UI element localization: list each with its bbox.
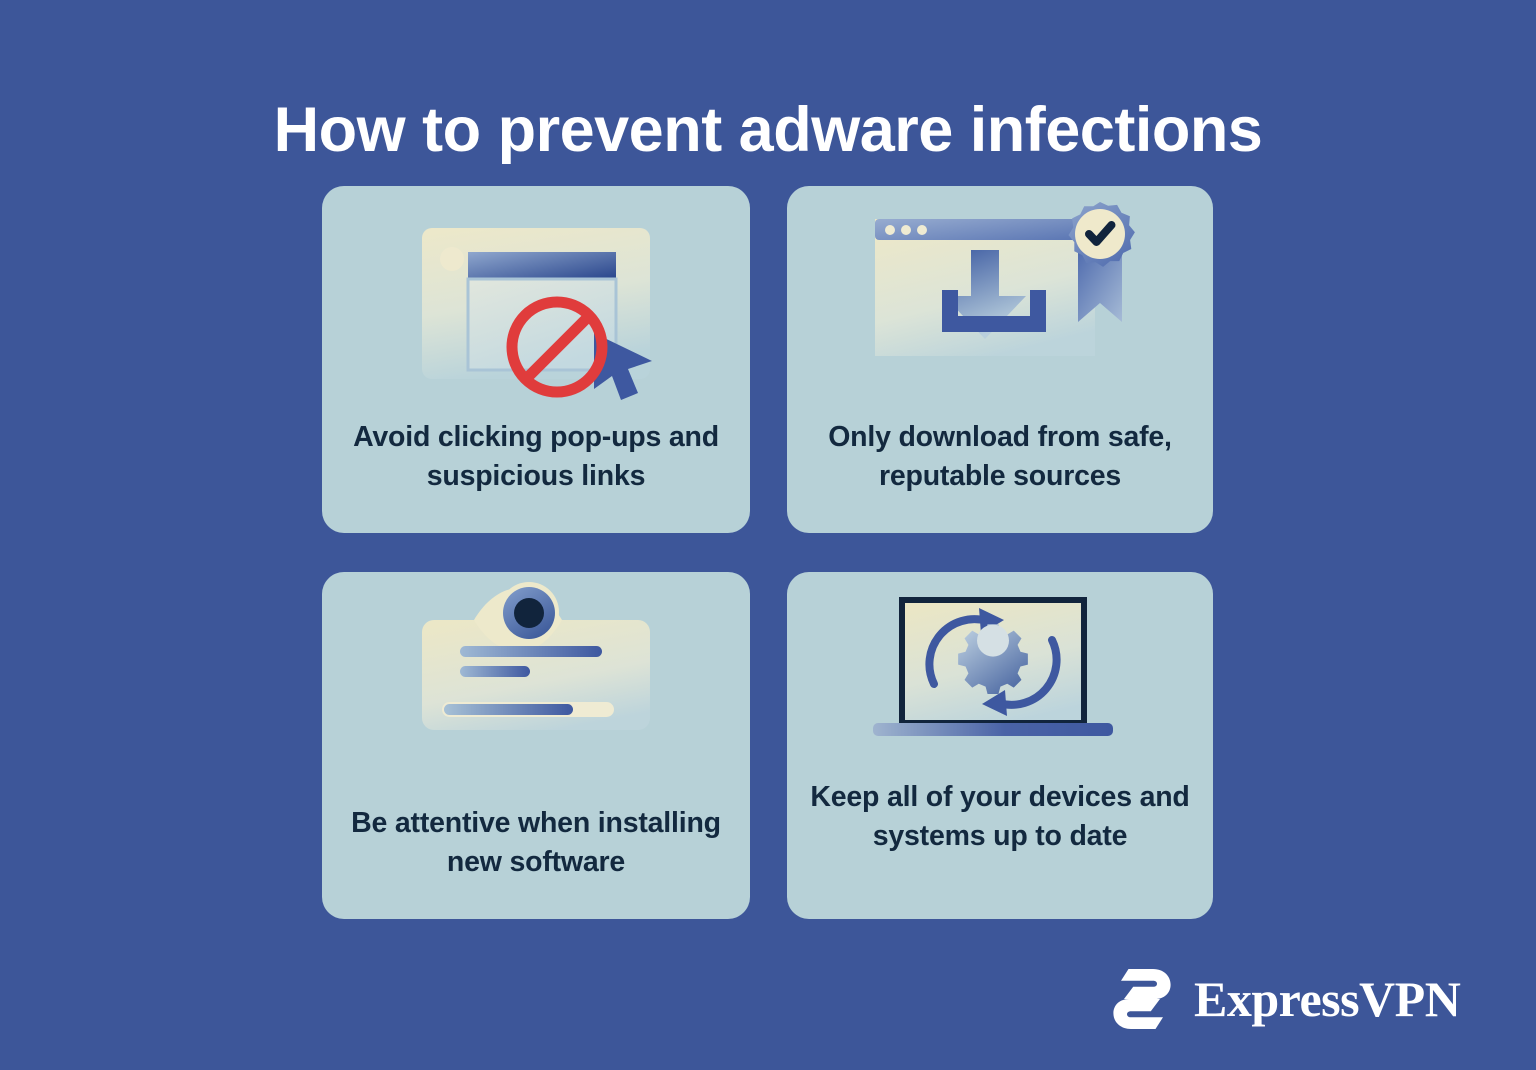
card-label: Keep all of your devices and systems up … xyxy=(801,778,1199,856)
popup-blocked-icon xyxy=(322,186,750,412)
card-label: Avoid clicking pop-ups and suspicious li… xyxy=(336,418,736,496)
card-up-to-date: Keep all of your devices and systems up … xyxy=(787,572,1213,919)
expressvpn-e-mark-icon xyxy=(1106,963,1178,1035)
verified-download-icon xyxy=(787,186,1213,412)
infographic-canvas: How to prevent adware infections xyxy=(0,0,1536,1070)
page-title: How to prevent adware infections xyxy=(0,96,1536,165)
card-avoid-popups: Avoid clicking pop-ups and suspicious li… xyxy=(322,186,750,533)
card-safe-downloads: Only download from safe, reputable sourc… xyxy=(787,186,1213,533)
brand-name: ExpressVPN xyxy=(1194,974,1460,1024)
tips-grid: Avoid clicking pop-ups and suspicious li… xyxy=(322,186,1214,919)
expressvpn-logo: ExpressVPN xyxy=(1106,960,1446,1038)
card-label: Only download from safe, reputable sourc… xyxy=(801,418,1199,496)
card-attentive-install: Be attentive when installing new softwar… xyxy=(322,572,750,919)
eye-install-dialog-icon xyxy=(322,572,750,798)
card-label: Be attentive when installing new softwar… xyxy=(336,804,736,882)
laptop-update-gear-icon xyxy=(787,572,1213,772)
